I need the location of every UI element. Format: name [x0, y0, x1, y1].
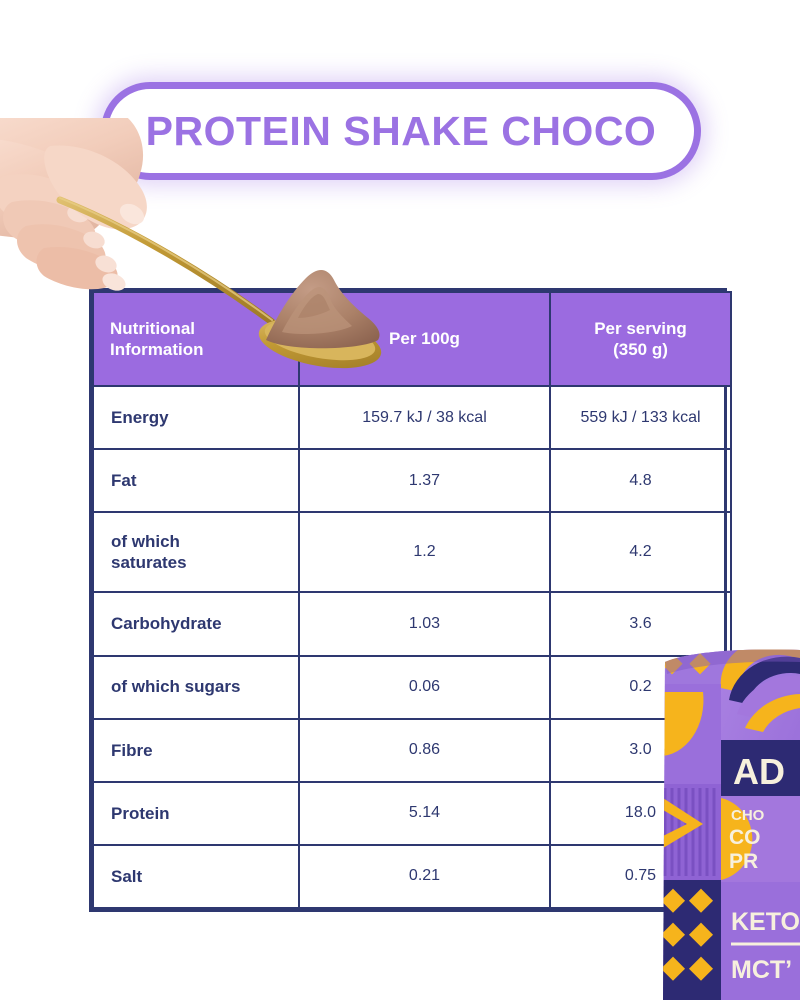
- row-value-energy-per-serving: 559 kJ / 133 kcal: [550, 386, 731, 449]
- header-serving-line2: (350 g): [613, 340, 668, 359]
- row-value-fat-per-100g: 1.37: [299, 449, 550, 512]
- row-label-carbohydrate: Carbohydrate: [93, 592, 299, 655]
- table-header-row: Nutritional Information Per 100g Per ser…: [93, 292, 731, 386]
- row-value-sugars-per-serving: 0.2: [550, 656, 731, 719]
- page-title: PROTEIN SHAKE CHOCO: [146, 108, 657, 155]
- header-per100g-label: Per 100g: [389, 329, 460, 348]
- row-value-protein-per-serving: 18.0: [550, 782, 731, 845]
- row-value-carbohydrate-per-serving: 3.6: [550, 592, 731, 655]
- row-value-fibre-per-serving: 3.0: [550, 719, 731, 782]
- row-label-protein: Protein: [93, 782, 299, 845]
- row-value-sugars-per-100g: 0.06: [299, 656, 550, 719]
- column-header-per-100g: Per 100g: [299, 292, 550, 386]
- pouch-flavour-line2: CO: [729, 826, 761, 849]
- row-label-of-which-sugars: of which sugars: [93, 656, 299, 719]
- table-row: Fat 1.37 4.8: [93, 449, 731, 512]
- row-label-salt: Salt: [93, 845, 299, 908]
- row-label-of-which-saturates: of which saturates: [93, 512, 299, 592]
- header-serving-line1: Per serving: [594, 319, 687, 338]
- column-header-nutritional-information: Nutritional Information: [93, 292, 299, 386]
- row-label-line1: of which: [111, 532, 180, 551]
- header-label-line2: Information: [110, 340, 204, 359]
- nutrition-table: Nutritional Information Per 100g Per ser…: [89, 288, 727, 912]
- table-row: of which sugars 0.06 0.2: [93, 656, 731, 719]
- row-value-energy-per-100g: 159.7 kJ / 38 kcal: [299, 386, 550, 449]
- row-value-fibre-per-100g: 0.86: [299, 719, 550, 782]
- pouch-flavour-line3: PR: [729, 850, 758, 873]
- row-value-carbohydrate-per-100g: 1.03: [299, 592, 550, 655]
- row-value-saturates-per-100g: 1.2: [299, 512, 550, 592]
- arc-pattern: [721, 648, 800, 732]
- header-label-line1: Nutritional: [110, 319, 195, 338]
- table-row: Salt 0.21 0.75: [93, 845, 731, 908]
- column-header-per-serving: Per serving (350 g): [550, 292, 731, 386]
- table-row: Fibre 0.86 3.0: [93, 719, 731, 782]
- infographic-page: PROTEIN SHAKE CHOCO: [0, 0, 800, 1000]
- row-label-energy: Energy: [93, 386, 299, 449]
- row-label-line2: saturates: [111, 553, 187, 572]
- nutrition-table-grid: Nutritional Information Per 100g Per ser…: [92, 291, 732, 909]
- table-row: Energy 159.7 kJ / 38 kcal 559 kJ / 133 k…: [93, 386, 731, 449]
- pouch-flavour-line1: CHO: [731, 807, 765, 824]
- table-row: Protein 5.14 18.0: [93, 782, 731, 845]
- table-row: of which saturates 1.2 4.2: [93, 512, 731, 592]
- row-value-salt-per-serving: 0.75: [550, 845, 731, 908]
- title-pill: PROTEIN SHAKE CHOCO: [101, 82, 701, 180]
- table-row: Carbohydrate 1.03 3.6: [93, 592, 731, 655]
- row-value-fat-per-serving: 4.8: [550, 449, 731, 512]
- table-header: Nutritional Information Per 100g Per ser…: [93, 292, 731, 386]
- row-value-protein-per-100g: 5.14: [299, 782, 550, 845]
- table-body: Energy 159.7 kJ / 38 kcal 559 kJ / 133 k…: [93, 386, 731, 908]
- pouch-keto-text: KETO: [731, 908, 800, 936]
- row-value-salt-per-100g: 0.21: [299, 845, 550, 908]
- row-label-fat: Fat: [93, 449, 299, 512]
- pouch-mct-text: MCT’: [731, 956, 792, 984]
- row-label-fibre: Fibre: [93, 719, 299, 782]
- row-value-saturates-per-serving: 4.2: [550, 512, 731, 592]
- pouch-brand-text: AD: [733, 751, 785, 792]
